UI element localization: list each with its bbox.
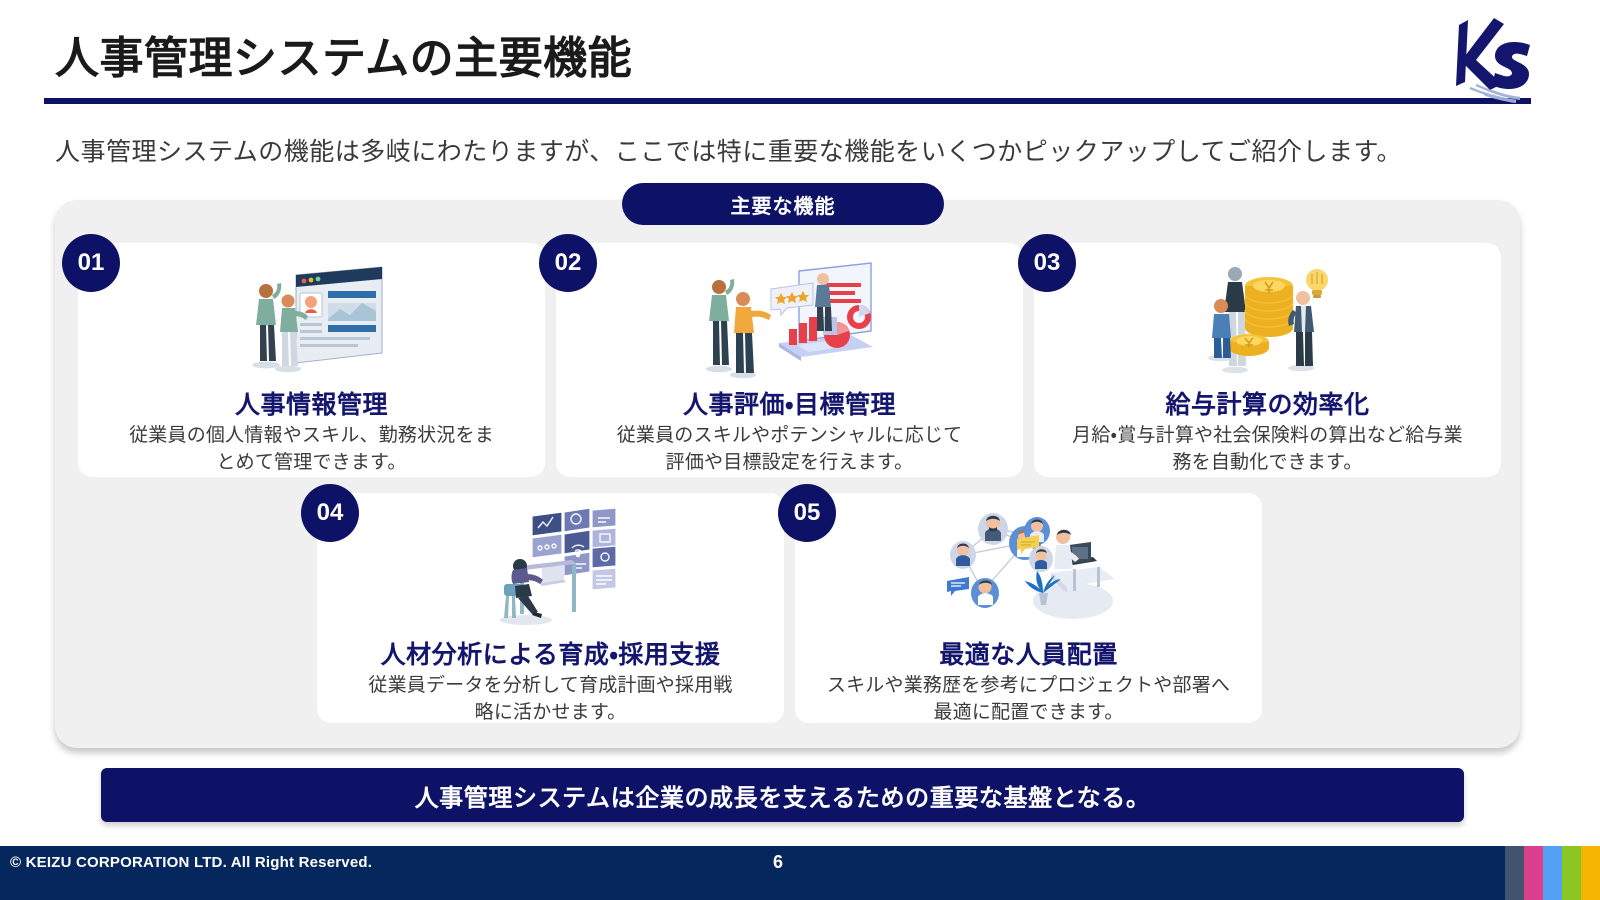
footer-swatch-blue [1543,846,1562,900]
feature-number-badge-04: 04 [301,484,359,542]
monitor-wall-analyst-illustration [317,503,784,635]
feature-number-badge-01: 01 [62,234,120,292]
feature-title: 人材分析による育成・採用支援 [317,635,784,671]
people-network-illustration [795,503,1262,635]
feature-description: 月給・賞与計算や社会保険料の算出など給与業務を自動化できます。 [1034,423,1501,477]
footer-copyright: © KEIZU CORPORATION LTD. All Right Reser… [10,854,372,871]
coins-payroll-illustration [1034,253,1501,385]
footer-swatch-pink [1524,846,1543,900]
conclusion-banner: 人事管理システムは企業の成長を支えるための重要な基盤となる。 [101,768,1464,822]
section-badge: 主要な機能 [622,183,944,225]
feature-card-04[interactable]: 人材分析による育成・採用支援 従業員データを分析して育成計画や採用戦略に活かせま… [317,493,784,723]
feature-title: 最適な人員配置 [795,635,1262,671]
page-title: 人事管理システムの主要機能 [55,22,632,86]
feature-description: スキルや業務歴を参考にプロジェクトや部署へ最適に配置できます。 [795,673,1262,727]
feature-card-01[interactable]: 人事情報管理 従業員の個人情報やスキル、勤務状況をまとめて管理できます。 [78,243,545,477]
feature-card-05[interactable]: 最適な人員配置 スキルや業務歴を参考にプロジェクトや部署へ最適に配置できます。 [795,493,1262,723]
footer-page-number: 6 [773,852,783,873]
title-underline-rule [44,98,1531,104]
feature-description: 従業員の個人情報やスキル、勤務状況をまとめて管理できます。 [78,423,545,477]
feature-description: 従業員データを分析して育成計画や採用戦略に活かせます。 [317,673,784,727]
feature-title: 給与計算の効率化 [1034,385,1501,421]
feature-title: 人事評価・目標管理 [556,385,1023,421]
footer-swatch-green [1562,846,1581,900]
dashboard-people-illustration [78,253,545,385]
feature-description: 従業員のスキルやポテンシャルに応じて評価や目標設定を行えます。 [556,423,1023,477]
feature-card-02[interactable]: 人事評価・目標管理 従業員のスキルやポテンシャルに応じて評価や目標設定を行えます… [556,243,1023,477]
feature-title: 人事情報管理 [78,385,545,421]
footer-swatch-slate [1505,846,1524,900]
analytics-charts-illustration [556,253,1023,385]
feature-number-badge-02: 02 [539,234,597,292]
footer-swatch-yellow [1581,846,1600,900]
lead-paragraph: 人事管理システムの機能は多岐にわたりますが、ここでは特に重要な機能をいくつかピッ… [55,132,1402,168]
keizu-ks-logo [1432,12,1537,104]
feature-card-03[interactable]: 給与計算の効率化 月給・賞与計算や社会保険料の算出など給与業務を自動化できます。 [1034,243,1501,477]
feature-number-badge-03: 03 [1018,234,1076,292]
feature-number-badge-05: 05 [778,484,836,542]
